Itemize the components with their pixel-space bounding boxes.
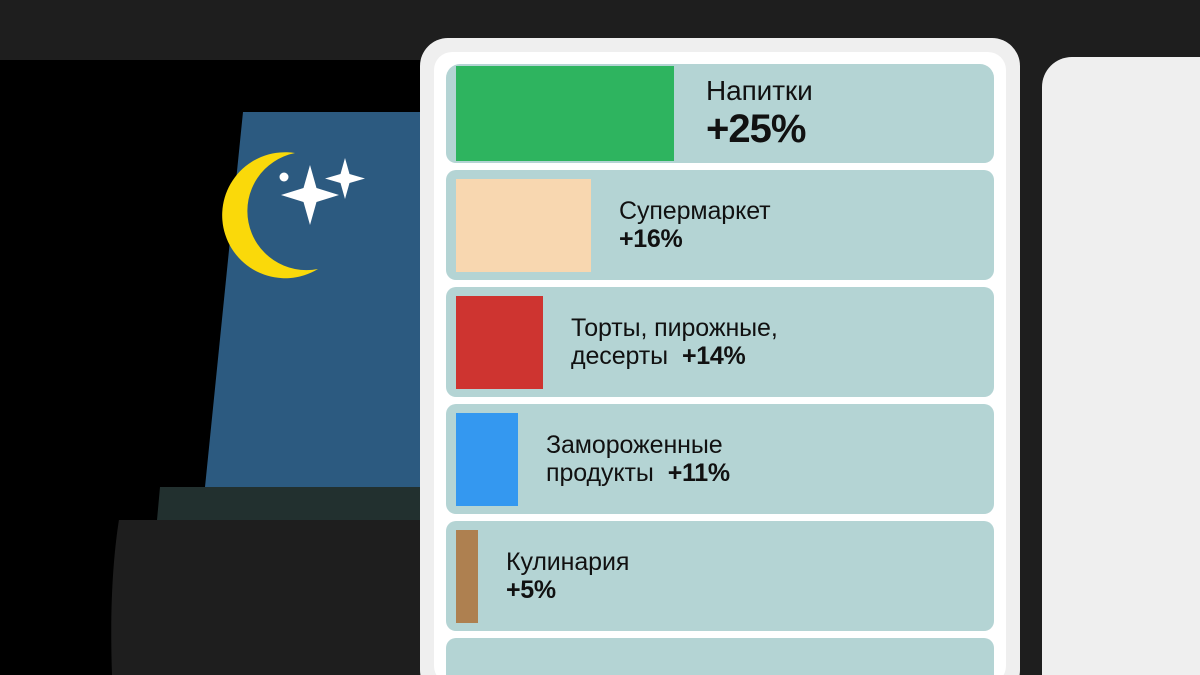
category-rows-list: Напитки+25%Супермаркет+16%Торты, пирожны… [446,64,994,675]
bar-slot [446,64,684,163]
category-label-line2: продукты [546,459,654,487]
category-bar [456,66,674,161]
category-bar [456,413,518,506]
category-label: Супермаркет [619,197,994,225]
row-frozen[interactable]: Замороженныепродукты+11% [446,404,994,514]
category-bar [456,530,478,623]
category-label-line2: десерты [571,342,668,370]
row-text: Напитки+25% [684,64,994,163]
night-window-illustration [0,0,470,675]
row-cakes-desserts[interactable]: Торты, пирожные,десерты+14% [446,287,994,397]
category-value: +5% [506,576,994,604]
row-next[interactable] [446,638,994,675]
category-value: +14% [682,342,745,370]
category-bar [456,296,543,389]
bar-slot [446,287,553,397]
bar-slot [446,170,601,280]
row-supermarket[interactable]: Супермаркет+16% [446,170,994,280]
row-drinks[interactable]: Напитки+25% [446,64,994,163]
card-inner: Напитки+25%Супермаркет+16%Торты, пирожны… [434,52,1006,675]
bar-slot [446,404,528,514]
row-text: Супермаркет+16% [601,170,994,280]
category-label: Напитки [706,75,994,106]
bar-slot [446,638,466,675]
category-label: Кулинария [506,548,994,576]
row-text: Торты, пирожные,десерты+14% [553,287,994,397]
row-culinary[interactable]: Кулинария+5% [446,521,994,631]
screenshot-root: Напитки+25%Супермаркет+16%Торты, пирожны… [0,0,1200,675]
row-text: Кулинария+5% [488,521,994,631]
category-value: +11% [668,459,730,487]
category-value: +25% [706,107,994,152]
category-label-line2-row: десерты+14% [571,342,994,370]
category-bar [456,179,591,272]
category-label-line2-row: продукты+11% [546,459,994,487]
categories-growth-card[interactable]: Напитки+25%Супермаркет+16%Торты, пирожны… [420,38,1020,675]
row-text [466,638,994,675]
bar-slot [446,521,488,631]
row-text: Замороженныепродукты+11% [528,404,994,514]
star-dot-icon [280,173,289,182]
category-value: +16% [619,225,994,253]
secondary-card[interactable] [1042,57,1200,675]
category-label: Замороженные [546,431,994,459]
category-label: Торты, пирожные, [571,314,994,342]
